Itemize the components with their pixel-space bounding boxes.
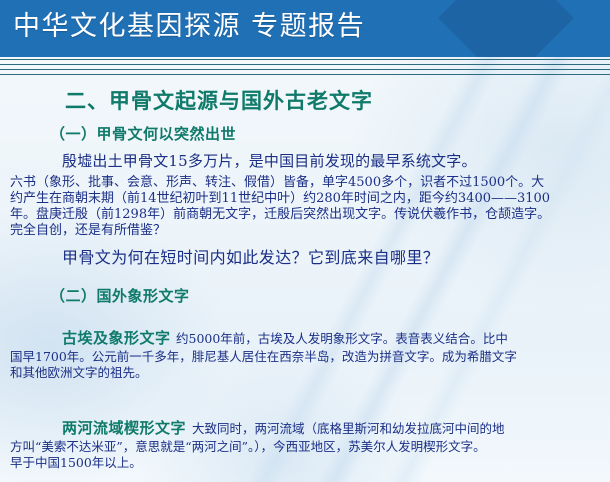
- egypt-line-1: 约5000年前，古埃及人发明象形文字。表音表义结合。比中: [176, 331, 508, 347]
- mesopotamia-line-2: 方叫“美索不达米亚”，意思就是“两河之间”。），今西亚地区，苏美尔人发明楔形文字…: [10, 439, 486, 455]
- header-rule-group: [0, 57, 610, 79]
- header-rule-4: [0, 74, 610, 75]
- slide-header-bar: 中华文化基因探源 专题报告: [0, 0, 610, 57]
- subsection-heading-two: （二）国外象形文字: [50, 285, 190, 306]
- slide-body: 二、甲骨文起源与国外古老文字 （一）甲骨文何以突然出世 殷墟出土甲骨文15多万片…: [0, 79, 610, 482]
- paragraph-one-line-2: 约产生在商朝末期（前14世纪初叶到11世纪中叶）约280年时间之内，距今约340…: [10, 191, 550, 207]
- mesopotamia-line-1: 大致同时，两河流域（底格里斯河和幼发拉底河中间的地: [192, 421, 505, 437]
- term-cuneiform: 两河流域楔形文字: [62, 417, 186, 438]
- egypt-line-3: 和其他欧洲文字的祖先。: [10, 365, 148, 381]
- paragraph-one-lead: 殷墟出土甲骨文15多万片，是中国目前发现的最早系统文字。: [62, 151, 477, 171]
- subsection-heading-one: （一）甲骨文何以突然出世: [50, 123, 236, 144]
- presentation-title: 中华文化基因探源 专题报告: [13, 6, 365, 48]
- rhetorical-question: 甲骨文为何在短时间内如此发达？它到底来自哪里？: [62, 247, 439, 269]
- section-heading: 二、甲骨文起源与国外古老文字: [65, 85, 373, 115]
- term-egyptian-hieroglyphs: 古埃及象形文字: [62, 327, 171, 348]
- header-chevron-shape: [438, 0, 574, 57]
- header-rule-1: [0, 59, 610, 60]
- mesopotamia-line-3: 早于中国1500年以上。: [10, 455, 142, 471]
- slide-canvas: 中华文化基因探源 专题报告 二、甲骨文起源与国外古老文字 （一）甲骨文何以突然出…: [0, 0, 610, 482]
- paragraph-one-line-4: 完全自创，还是有所借鉴？: [10, 223, 166, 239]
- paragraph-one-line-3: 年。盘庚迁殷（前1298年）前商朝无文字，迁殷后突然出现文字。传说伏羲作书，仓颉…: [10, 207, 550, 223]
- egypt-line-2: 国早1700年。公元前一千多年，腓尼基人居住在西奈半岛，改造为拼音文字。成为希腊…: [10, 349, 517, 365]
- paragraph-one-line-1: 六书（象形、批事、会意、形声、转注、假借）皆备，单字4500多个，识者不过150…: [10, 175, 544, 191]
- header-rule-2: [0, 64, 610, 65]
- header-rule-3: [0, 69, 610, 70]
